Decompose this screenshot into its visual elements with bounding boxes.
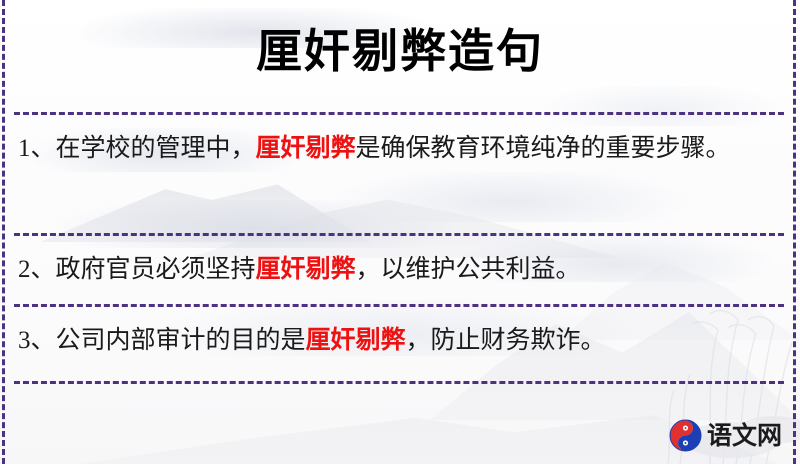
worksheet-page: 厘奸剔弊造句 1、在学校的管理中，厘奸剔弊是确保教育环境纯净的重要步骤。 2、政… (0, 0, 800, 464)
example-sentence: 3、公司内部审计的目的是厘奸剔弊，防止财务欺诈。 (18, 320, 776, 362)
site-logo[interactable]: 语文网 (669, 419, 782, 452)
mist-band (20, 200, 490, 248)
sentence-index: 3、 (18, 327, 56, 354)
mist-band (300, 172, 720, 222)
highlighted-idiom: 厘奸剔弊 (256, 256, 356, 283)
separator-rule-3 (14, 304, 784, 307)
sentence-index: 1、 (18, 135, 56, 162)
left-border-rule (2, 0, 5, 464)
highlighted-idiom: 厘奸剔弊 (306, 327, 406, 354)
logo-text: 语文网 (707, 423, 782, 448)
sentence-text-before: 政府官员必须坚持 (56, 256, 256, 283)
highlighted-idiom: 厘奸剔弊 (256, 135, 356, 162)
example-sentence: 1、在学校的管理中，厘奸剔弊是确保教育环境纯净的重要步骤。 (18, 128, 776, 170)
mist-band (520, 86, 800, 126)
sentence-text-after: ，以维护公共利益。 (356, 256, 581, 283)
yinyang-fish-icon (669, 419, 702, 452)
separator-rule-1 (14, 112, 784, 115)
sentence-text-before: 在学校的管理中， (56, 135, 256, 162)
sentence-text-after: ，防止财务欺诈。 (406, 327, 606, 354)
separator-rule-4 (14, 381, 784, 384)
example-sentence: 2、政府官员必须坚持厘奸剔弊，以维护公共利益。 (18, 249, 776, 291)
sentence-text-after: 是确保教育环境纯净的重要步骤。 (356, 135, 731, 162)
right-border-rule (793, 0, 796, 464)
sentence-index: 2、 (18, 256, 56, 283)
separator-rule-2 (14, 233, 784, 236)
sentence-text-before: 公司内部审计的目的是 (56, 327, 306, 354)
page-title: 厘奸剔弊造句 (0, 22, 800, 80)
